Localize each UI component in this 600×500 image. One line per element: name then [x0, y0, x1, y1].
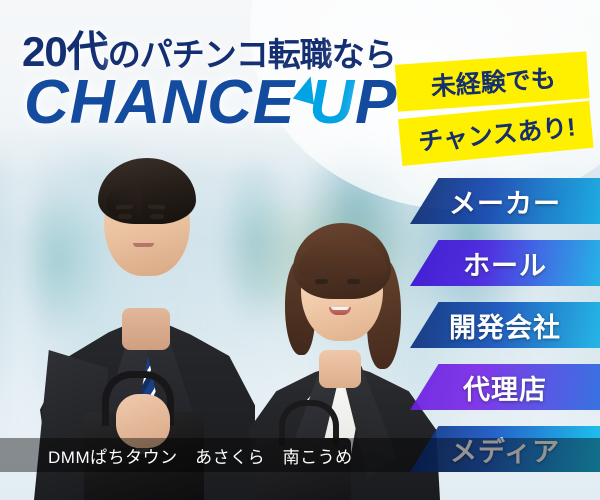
businesswoman-teeth [331, 307, 349, 310]
category-label: メーカー [449, 182, 561, 221]
ad-banner[interactable]: 20代のパチンコ転職なら CHANCEUP 未経験でも チャンスあり! メーカー… [0, 0, 600, 500]
businesswoman-eye-right [347, 279, 360, 284]
category-label: 開発会社 [449, 306, 561, 345]
category-label: ホール [463, 244, 547, 283]
category-item-maker[interactable]: メーカー [410, 178, 600, 224]
logo-letter-p: P [355, 68, 397, 137]
category-label: 代理店 [463, 368, 547, 407]
businesswoman-neck [319, 350, 361, 388]
category-item-hall[interactable]: ホール [410, 240, 600, 286]
businessman-eye-right [150, 214, 164, 219]
businesswoman-eye-left [315, 279, 328, 284]
logo-word-chance: CHANCE [24, 68, 295, 137]
logo-chance-up: CHANCEUP [24, 72, 397, 134]
businessman-eyebrow-right [148, 205, 165, 210]
businessman-mouth [133, 243, 154, 247]
businessman-eye-left [118, 214, 132, 219]
businessman-neck [122, 308, 170, 350]
credits-bar: DMMぱちタウン あさくら 南こうめ [0, 438, 600, 472]
category-item-developer[interactable]: 開発会社 [410, 302, 600, 348]
category-item-agency[interactable]: 代理店 [410, 364, 600, 410]
credits-text: DMMぱちタウン あさくら 南こうめ [0, 443, 353, 468]
businessman-hair [98, 158, 196, 224]
promo-badge: 未経験でも チャンスあり! [395, 51, 593, 163]
